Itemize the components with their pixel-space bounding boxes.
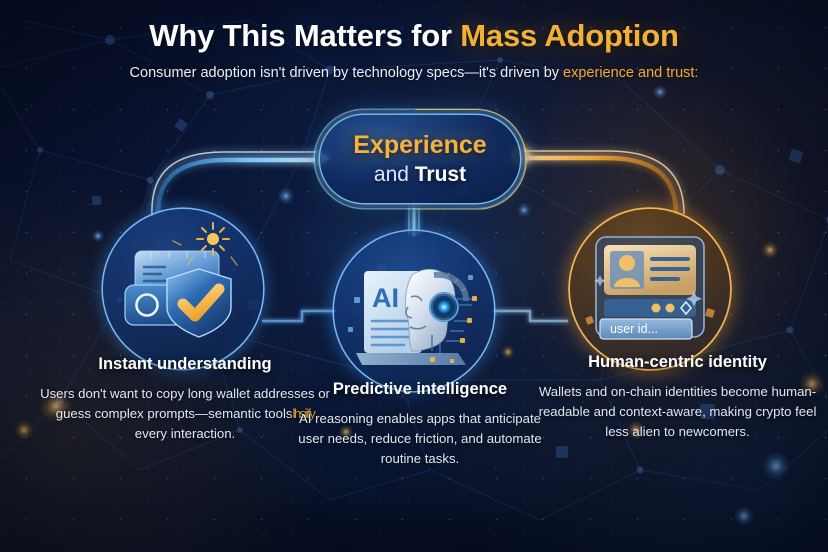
card-body: AI reasoning enables apps that anticipat… [285, 409, 555, 469]
node-predictive-intelligence[interactable]: AI [334, 231, 494, 391]
page-subtitle-accent: experience and trust: [563, 65, 698, 81]
card-heading: Human-centric identity [535, 353, 820, 372]
page-title-accent: Mass Adoption [460, 18, 678, 53]
header-block: Why This Matters for Mass Adoption Consu… [0, 18, 828, 81]
connector-middle-to-right [492, 311, 568, 321]
card-heading: Instant understanding [40, 355, 330, 374]
hub-label-experience: Experience [353, 133, 486, 159]
page-title: Why This Matters for Mass Adoption [0, 18, 828, 54]
svg-text:AI: AI [372, 283, 399, 313]
page-subtitle: Consumer adoption isn't driven by techno… [0, 65, 828, 81]
ai-robot-head-document-icon: AI [334, 231, 494, 391]
connector-left-branch [152, 149, 330, 216]
id-card-avatar-icon: user id... [570, 209, 730, 369]
hub-label-and: and [374, 163, 415, 186]
connector-right-branch [512, 147, 684, 214]
hub-pill-node[interactable]: Experience and Trust [320, 115, 520, 203]
connector-left-to-middle [262, 311, 336, 321]
hub-label-and-trust: and Trust [374, 164, 466, 185]
page-subtitle-main: Consumer adoption isn't driven by techno… [130, 65, 564, 81]
node-human-centric-identity[interactable]: user id... [570, 209, 730, 369]
card-body-tail: every interaction. [135, 426, 235, 441]
svg-text:user id...: user id... [610, 322, 658, 336]
infographic-canvas: Why This Matters for Mass Adoption Consu… [0, 0, 828, 552]
card-predictive-intelligence: Predictive intelligence AI reasoning ena… [285, 380, 555, 469]
card-human-centric-identity: Human-centric identity Wallets and on-ch… [535, 353, 820, 442]
card-body: Wallets and on-chain identities become h… [535, 382, 820, 442]
hub-label-trust: Trust [415, 163, 466, 186]
wallet-card-shield-check-icon: xx... [103, 209, 263, 369]
card-heading: Predictive intelligence [285, 380, 555, 399]
node-instant-understanding[interactable]: xx... [103, 209, 263, 369]
page-title-main: Why This Matters for [149, 18, 460, 53]
